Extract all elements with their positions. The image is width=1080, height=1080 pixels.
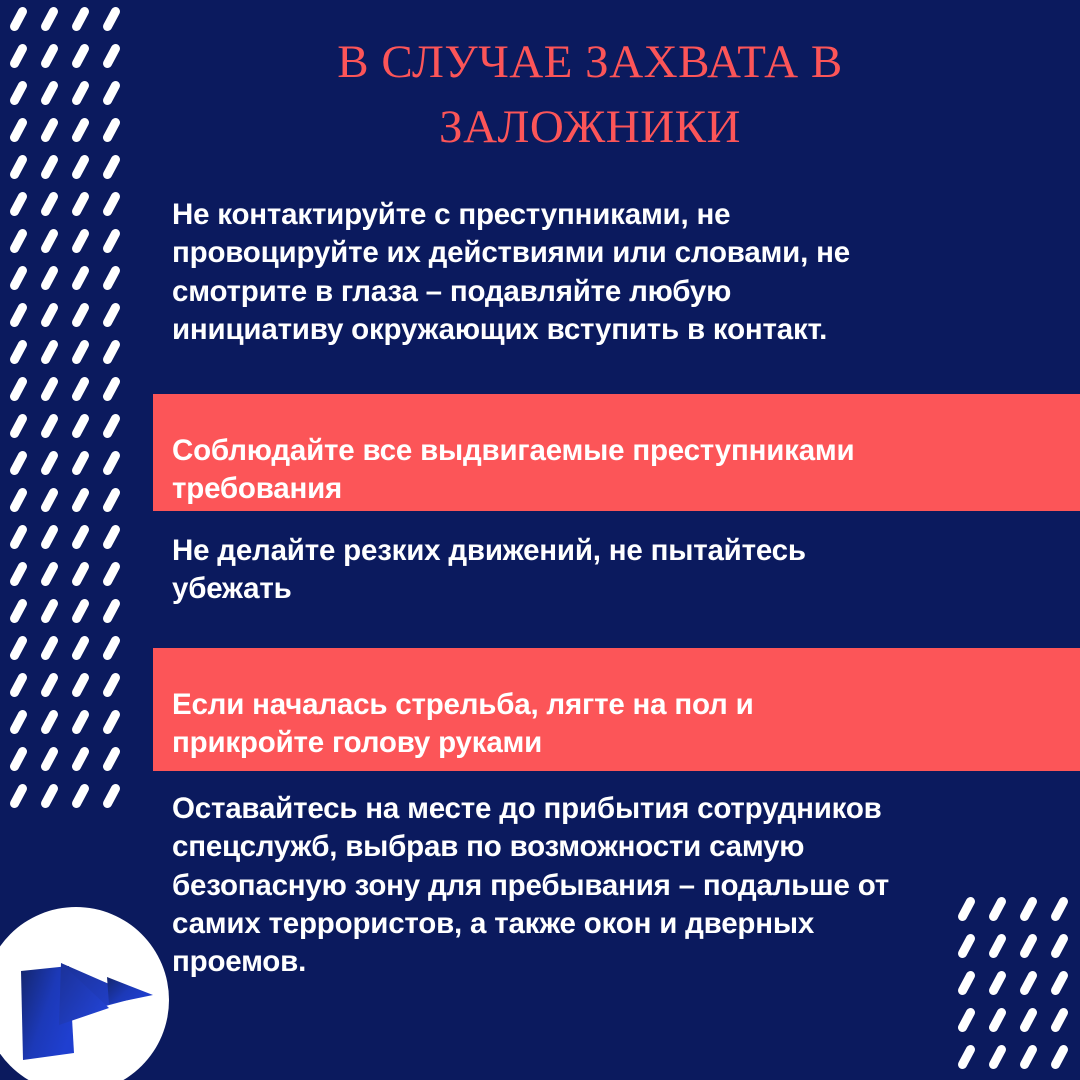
decorative-dash: [70, 523, 90, 550]
decorative-dash: [101, 745, 121, 772]
decorative-dash: [1018, 1006, 1038, 1033]
decorative-dash: [101, 338, 121, 365]
decorative-dash: [70, 42, 90, 69]
decorative-dash: [70, 412, 90, 439]
poster-canvas: В СЛУЧАЕ ЗАХВАТА В ЗАЛОЖНИКИ Не контакти…: [0, 0, 1080, 1080]
decorative-dash: [70, 375, 90, 402]
decorative-dash: [70, 190, 90, 217]
decorative-dash: [8, 708, 28, 735]
decorative-dash: [70, 227, 90, 254]
decorative-dash: [39, 671, 59, 698]
decorative-dash: [39, 523, 59, 550]
decorative-dash: [70, 5, 90, 32]
decorative-dash: [70, 486, 90, 513]
decorative-dash: [987, 1006, 1007, 1033]
advice-block-2-highlighted: Соблюдайте все выдвигаемые преступниками…: [153, 394, 1080, 511]
decorative-dash: [70, 634, 90, 661]
decorative-dash: [101, 560, 121, 587]
decorative-dash: [101, 264, 121, 291]
decorative-dash: [101, 5, 121, 32]
decorative-dash: [8, 782, 28, 809]
decorative-dash: [101, 782, 121, 809]
advice-line: безопасную зону для пребывания – подальш…: [172, 867, 1052, 905]
decorative-dash: [101, 301, 121, 328]
decorative-dash: [39, 745, 59, 772]
decorative-dash: [101, 634, 121, 661]
decorative-dash: [39, 42, 59, 69]
decorative-dash: [70, 782, 90, 809]
advice-line: проемов.: [172, 943, 1052, 981]
decorative-dash: [1049, 932, 1069, 959]
decorative-dash: [1049, 895, 1069, 922]
decorative-dash: [8, 153, 28, 180]
decorative-dash: [39, 597, 59, 624]
decorative-dash: [101, 375, 121, 402]
decorative-dash: [39, 338, 59, 365]
decorative-dash: [39, 708, 59, 735]
advice-line: спецслужб, выбрав по возможности самую: [172, 828, 1052, 866]
decorative-dash: [101, 227, 121, 254]
decorative-dash: [8, 671, 28, 698]
decorative-dash: [956, 1006, 976, 1033]
advice-line: убежать: [172, 570, 1052, 608]
decorative-dash: [39, 116, 59, 143]
advice-line: Если началась стрельба, лягте на пол и: [172, 686, 1080, 724]
decorative-dash: [8, 486, 28, 513]
decorative-dash: [101, 671, 121, 698]
decorative-dash: [39, 227, 59, 254]
decorative-dash: [70, 116, 90, 143]
decorative-dash-pattern-left: [14, 6, 132, 826]
decorative-dash: [70, 597, 90, 624]
advice-line: Соблюдайте все выдвигаемые преступниками: [172, 432, 1080, 470]
decorative-dash: [101, 153, 121, 180]
decorative-dash: [987, 1043, 1007, 1070]
decorative-dash: [1049, 969, 1069, 996]
decorative-dash: [8, 79, 28, 106]
advice-block-3: Не делайте резких движений, не пытайтесь…: [153, 532, 1052, 609]
decorative-dash: [70, 745, 90, 772]
decorative-dash: [8, 560, 28, 587]
decorative-dash: [39, 560, 59, 587]
decorative-dash: [101, 449, 121, 476]
decorative-dash: [39, 5, 59, 32]
decorative-dash: [8, 190, 28, 217]
decorative-dash: [8, 301, 28, 328]
page-title: В СЛУЧАЕ ЗАХВАТА В ЗАЛОЖНИКИ: [150, 30, 1030, 160]
decorative-dash: [101, 486, 121, 513]
advice-line: смотрите в глаза – подавляйте любую: [172, 273, 1052, 311]
decorative-dash: [1018, 1043, 1038, 1070]
page-title-line: ЗАЛОЖНИКИ: [150, 95, 1030, 160]
decorative-dash: [8, 375, 28, 402]
advice-line: требования: [172, 470, 1080, 508]
brand-logo: [0, 905, 171, 1080]
decorative-dash: [8, 264, 28, 291]
decorative-dash: [8, 634, 28, 661]
advice-block-1: Не контактируйте с преступниками, не про…: [153, 196, 1052, 349]
decorative-dash: [70, 301, 90, 328]
decorative-dash: [101, 523, 121, 550]
advice-line: Оставайтесь на месте до прибытия сотрудн…: [172, 790, 1052, 828]
decorative-dash: [70, 708, 90, 735]
decorative-dash: [8, 523, 28, 550]
decorative-dash: [39, 153, 59, 180]
advice-line: прикройте голову руками: [172, 724, 1080, 762]
decorative-dash: [39, 301, 59, 328]
decorative-dash: [39, 79, 59, 106]
decorative-dash: [39, 264, 59, 291]
advice-line: самих террористов, а также окон и дверны…: [172, 905, 1052, 943]
decorative-dash: [39, 486, 59, 513]
decorative-dash: [8, 116, 28, 143]
decorative-dash: [8, 42, 28, 69]
advice-line: Не делайте резких движений, не пытайтесь: [172, 532, 1052, 570]
decorative-dash: [101, 42, 121, 69]
decorative-dash: [39, 412, 59, 439]
decorative-dash: [101, 190, 121, 217]
decorative-dash: [39, 449, 59, 476]
advice-line: провоцируйте их действиями или словами, …: [172, 234, 1052, 272]
decorative-dash: [39, 190, 59, 217]
decorative-dash: [8, 449, 28, 476]
advice-line: инициативу окружающих вступить в контакт…: [172, 311, 1052, 349]
decorative-dash: [70, 79, 90, 106]
decorative-dash: [101, 597, 121, 624]
decorative-dash: [8, 5, 28, 32]
page-title-line: В СЛУЧАЕ ЗАХВАТА В: [150, 30, 1030, 95]
decorative-dash: [39, 634, 59, 661]
decorative-dash: [8, 745, 28, 772]
logo-icon: [0, 905, 171, 1080]
decorative-dash: [1049, 1043, 1069, 1070]
decorative-dash: [8, 412, 28, 439]
decorative-dash: [101, 79, 121, 106]
decorative-dash: [101, 412, 121, 439]
decorative-dash: [70, 338, 90, 365]
decorative-dash: [70, 264, 90, 291]
decorative-dash: [956, 1043, 976, 1070]
decorative-dash: [1049, 1006, 1069, 1033]
decorative-dash: [70, 153, 90, 180]
advice-block-5: Оставайтесь на месте до прибытия сотрудн…: [153, 790, 1052, 982]
decorative-dash: [70, 671, 90, 698]
decorative-dash: [8, 338, 28, 365]
decorative-dash: [70, 560, 90, 587]
decorative-dash: [39, 375, 59, 402]
advice-block-4-highlighted: Если началась стрельба, лягте на пол и п…: [153, 648, 1080, 771]
decorative-dash: [101, 708, 121, 735]
decorative-dash: [8, 227, 28, 254]
advice-line: Не контактируйте с преступниками, не: [172, 196, 1052, 234]
decorative-dash: [39, 782, 59, 809]
decorative-dash: [8, 597, 28, 624]
decorative-dash: [70, 449, 90, 476]
decorative-dash: [101, 116, 121, 143]
